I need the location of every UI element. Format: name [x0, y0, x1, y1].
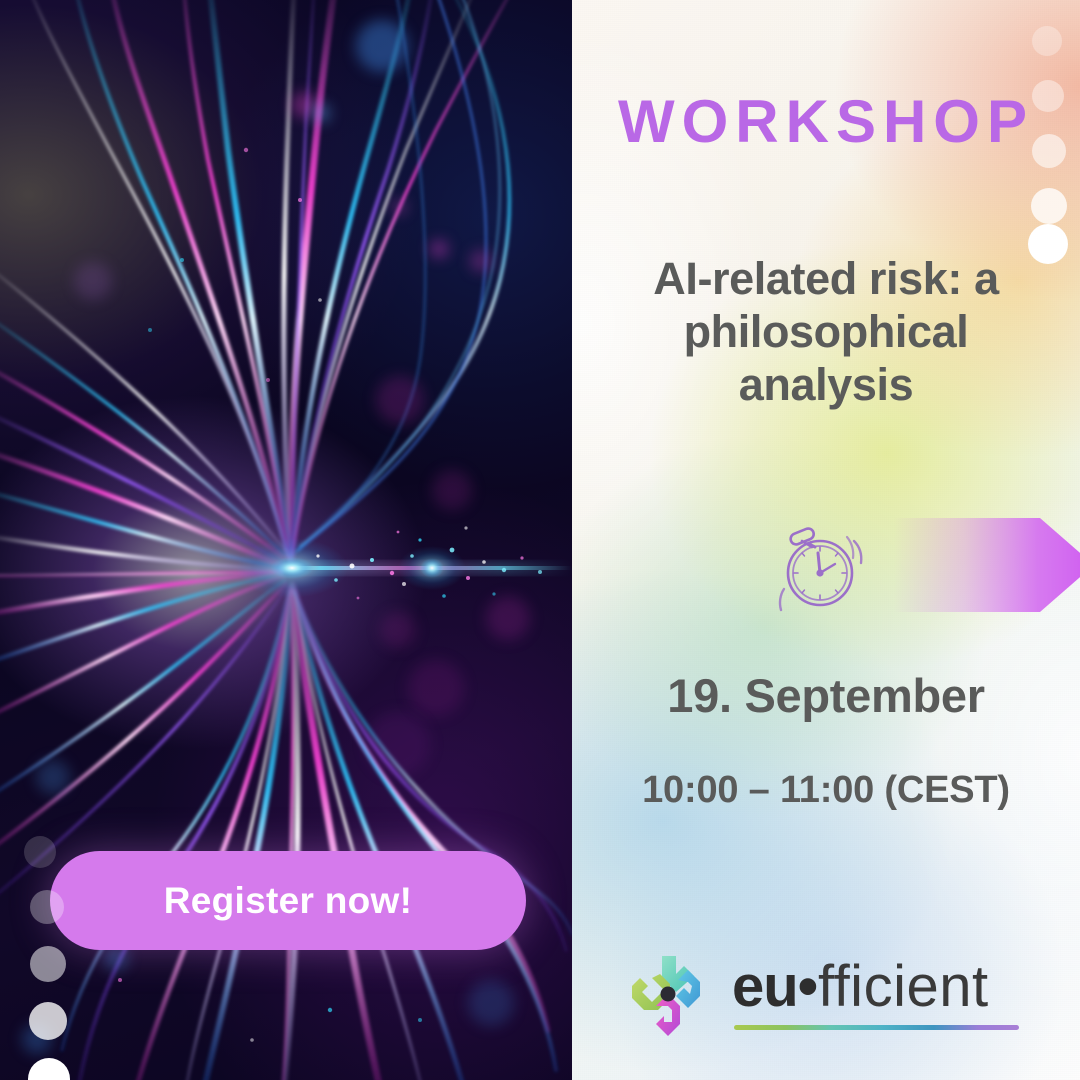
decor-dot: [1032, 80, 1064, 112]
decorative-dots-left: [0, 836, 90, 1080]
eufficient-pinwheel-logo-icon: [622, 948, 714, 1040]
decor-dot: [28, 1058, 70, 1080]
decor-dot: [24, 836, 56, 868]
register-now-button[interactable]: Register now!: [50, 851, 526, 950]
brand-logo[interactable]: eu•fficient: [622, 944, 1032, 1044]
decor-dot: [1028, 224, 1068, 264]
logo-text-fficient: fficient: [818, 954, 989, 1019]
right-arrow-icon: [894, 514, 1080, 616]
event-date: 19. September: [592, 668, 1060, 723]
logo-gradient-underline: [734, 1025, 1019, 1030]
brand-wordmark: eu•fficient: [732, 958, 989, 1030]
decor-dot: [30, 890, 64, 924]
workshop-kicker: WORKSHOP: [572, 92, 1080, 152]
logo-text-eu: eu: [732, 954, 798, 1019]
workshop-announcement-poster: Register now! WORKSHOP AI-related risk: …: [0, 0, 1080, 1080]
decor-dot: [1032, 26, 1062, 56]
register-now-label: Register now!: [164, 880, 413, 922]
event-time: 10:00 – 11:00 (CEST): [592, 769, 1060, 812]
stopwatch-icon: [768, 511, 878, 619]
decorative-dots-right: [1010, 0, 1080, 280]
decor-dot: [1032, 134, 1066, 168]
event-info-panel: WORKSHOP AI-related risk: a philosophica…: [572, 0, 1080, 1080]
decor-dot: [1031, 188, 1067, 224]
icon-band: [572, 505, 1080, 625]
decor-dot: [30, 946, 66, 982]
decor-dot: [29, 1002, 67, 1040]
page-title: AI-related risk: a philosophical analysi…: [600, 252, 1052, 411]
logo-separator-dot: •: [798, 954, 818, 1019]
fiber-optic-hero-image: Register now!: [0, 0, 572, 1080]
